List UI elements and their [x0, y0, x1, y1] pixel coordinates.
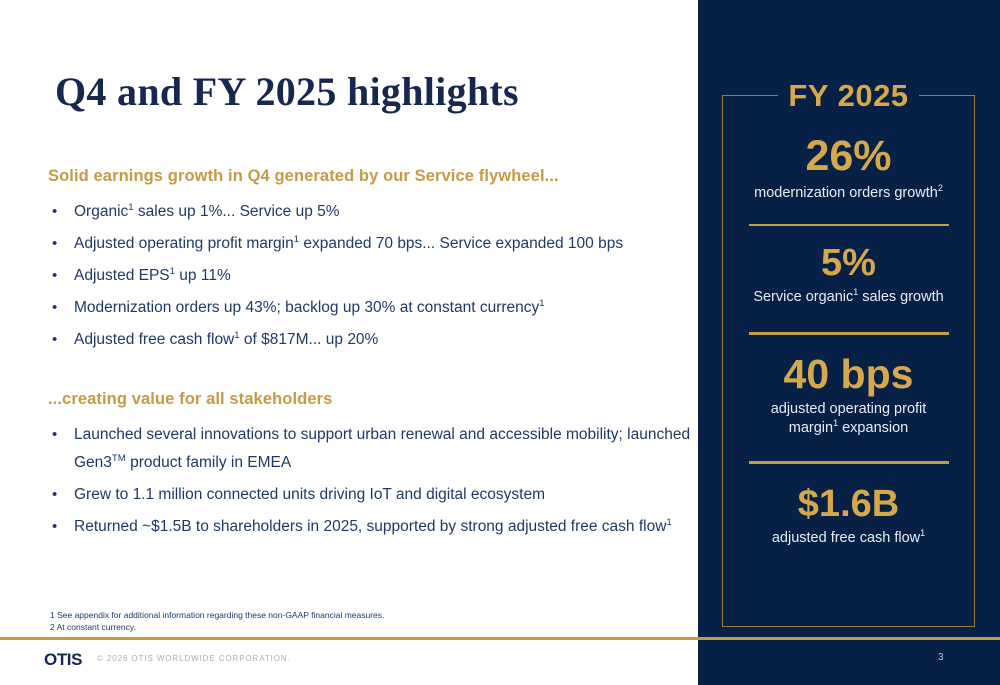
list-item: Grew to 1.1 million connected units driv…	[48, 481, 700, 509]
metric-label: Service organic1 sales growth	[722, 288, 975, 307]
metric-label: modernization orders growth2	[722, 184, 975, 203]
metric-label: adjusted operating profitmargin1 expansi…	[722, 400, 975, 438]
metric-value: 40 bps	[722, 354, 975, 396]
metric-panel-title: FY 2025	[722, 78, 975, 114]
list-item: Adjusted operating profit margin1 expand…	[48, 230, 700, 258]
list-item: Adjusted EPS1 up 11%	[48, 262, 700, 290]
metric-value: 26%	[722, 135, 975, 179]
list-item: Launched several innovations to support …	[48, 421, 700, 477]
list-item: Adjusted free cash flow1 of $817M... up …	[48, 326, 700, 354]
list-item: Returned ~$1.5B to shareholders in 2025,…	[48, 513, 700, 541]
metric-divider	[749, 224, 949, 227]
bullet-list-stakeholders: Launched several innovations to support …	[48, 421, 700, 545]
bullet-list-earnings: Organic1 sales up 1%... Service up 5%Adj…	[48, 198, 700, 358]
metric-divider	[749, 461, 949, 464]
copyright-notice: © 2026 OTIS WORLDWIDE CORPORATION.	[97, 654, 291, 663]
list-item: Organic1 sales up 1%... Service up 5%	[48, 198, 700, 226]
footnote-line: 1 See appendix for additional informatio…	[50, 610, 384, 622]
page-title: Q4 and FY 2025 highlights	[55, 68, 519, 115]
list-item: Modernization orders up 43%; backlog up …	[48, 294, 700, 322]
metric-item: 40 bpsadjusted operating profitmargin1 e…	[722, 354, 975, 439]
metric-item: $1.6Badjusted free cash flow1	[722, 485, 975, 548]
footer-divider-rule	[0, 637, 1000, 640]
section-heading-stakeholders: ...creating value for all stakeholders	[48, 390, 332, 409]
otis-logo: OTIS	[44, 650, 82, 670]
section-heading-earnings: Solid earnings growth in Q4 generated by…	[48, 167, 559, 186]
metric-list: 26%modernization orders growth25%Service…	[722, 118, 975, 623]
metric-value: $1.6B	[722, 485, 975, 524]
footnote-line: 2 At constant currency.	[50, 622, 384, 634]
footnotes: 1 See appendix for additional informatio…	[50, 610, 384, 633]
metric-panel-title-text: FY 2025	[778, 78, 918, 114]
metric-value: 5%	[722, 244, 975, 283]
metric-item: 26%modernization orders growth2	[722, 135, 975, 203]
metric-label: adjusted free cash flow1	[722, 529, 975, 548]
metric-item: 5%Service organic1 sales growth	[722, 244, 975, 307]
page-number: 3	[938, 652, 944, 663]
metric-divider	[749, 332, 949, 335]
